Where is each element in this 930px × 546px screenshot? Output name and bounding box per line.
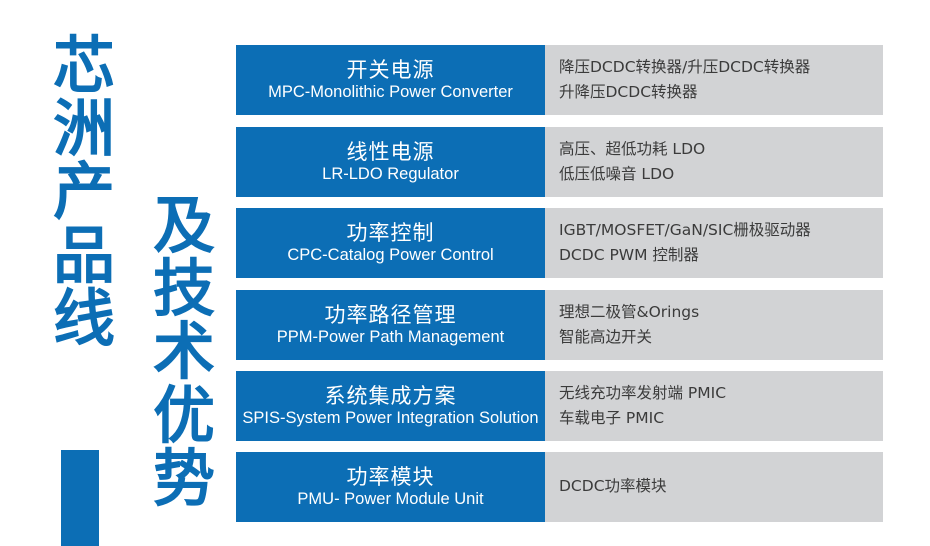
detail-line: 降压DCDC转换器/升压DCDC转换器 [559,55,883,80]
detail-line: 理想二极管&Orings [559,300,883,325]
detail-line: IGBT/MOSFET/GaN/SIC栅极驱动器 [559,218,883,243]
table-row: 开关电源 MPC-Monolithic Power Converter 降压DC… [236,45,883,115]
detail-cell: DCDC功率模块 [545,452,883,522]
category-name-cn: 功率模块 [347,465,435,490]
category-name-en: SPIS-System Power Integration Solution [242,408,538,428]
category-name-en: PMU- Power Module Unit [297,489,483,509]
table-row: 线性电源 LR-LDO Regulator 高压、超低功耗 LDO 低压低噪音 … [236,127,883,197]
category-cell: 功率路径管理 PPM-Power Path Management [236,290,545,360]
category-name-cn: 开关电源 [347,58,435,83]
category-cell: 功率模块 PMU- Power Module Unit [236,452,545,522]
detail-cell: 高压、超低功耗 LDO 低压低噪音 LDO [545,127,883,197]
category-cell: 功率控制 CPC-Catalog Power Control [236,208,545,278]
slide-canvas: 芯 洲 产 品 线 及 技 术 优 势 开关电源 MPC-Monolithic … [0,0,930,546]
table-row: 功率模块 PMU- Power Module Unit DCDC功率模块 [236,452,883,522]
table-row: 系统集成方案 SPIS-System Power Integration Sol… [236,371,883,441]
detail-line: DCDC PWM 控制器 [559,243,883,268]
category-name-cn: 功率路径管理 [325,303,457,328]
table-row: 功率路径管理 PPM-Power Path Management 理想二极管&O… [236,290,883,360]
detail-line: 车载电子 PMIC [559,406,883,431]
category-name-cn: 线性电源 [347,140,435,165]
table-row: 功率控制 CPC-Catalog Power Control IGBT/MOSF… [236,208,883,278]
detail-cell: 无线充功率发射端 PMIC 车载电子 PMIC [545,371,883,441]
detail-line: 低压低噪音 LDO [559,162,883,187]
detail-line: 升降压DCDC转换器 [559,80,883,105]
slide-title-line-2: 及 技 术 优 势 [148,194,220,510]
accent-bar-decoration [61,450,99,546]
detail-line: 无线充功率发射端 PMIC [559,381,883,406]
category-name-en: LR-LDO Regulator [322,164,459,184]
detail-cell: IGBT/MOSFET/GaN/SIC栅极驱动器 DCDC PWM 控制器 [545,208,883,278]
category-cell: 系统集成方案 SPIS-System Power Integration Sol… [236,371,545,441]
category-name-cn: 系统集成方案 [325,384,457,409]
slide-title-line-1: 芯 洲 产 品 线 [48,34,120,350]
category-cell: 线性电源 LR-LDO Regulator [236,127,545,197]
detail-line: 高压、超低功耗 LDO [559,137,883,162]
detail-cell: 理想二极管&Orings 智能高边开关 [545,290,883,360]
category-name-en: CPC-Catalog Power Control [287,245,493,265]
category-name-en: PPM-Power Path Management [277,327,504,347]
category-cell: 开关电源 MPC-Monolithic Power Converter [236,45,545,115]
detail-line: DCDC功率模块 [559,474,883,499]
category-name-cn: 功率控制 [347,221,435,246]
detail-cell: 降压DCDC转换器/升压DCDC转换器 升降压DCDC转换器 [545,45,883,115]
detail-line: 智能高边开关 [559,325,883,350]
category-name-en: MPC-Monolithic Power Converter [268,82,513,102]
